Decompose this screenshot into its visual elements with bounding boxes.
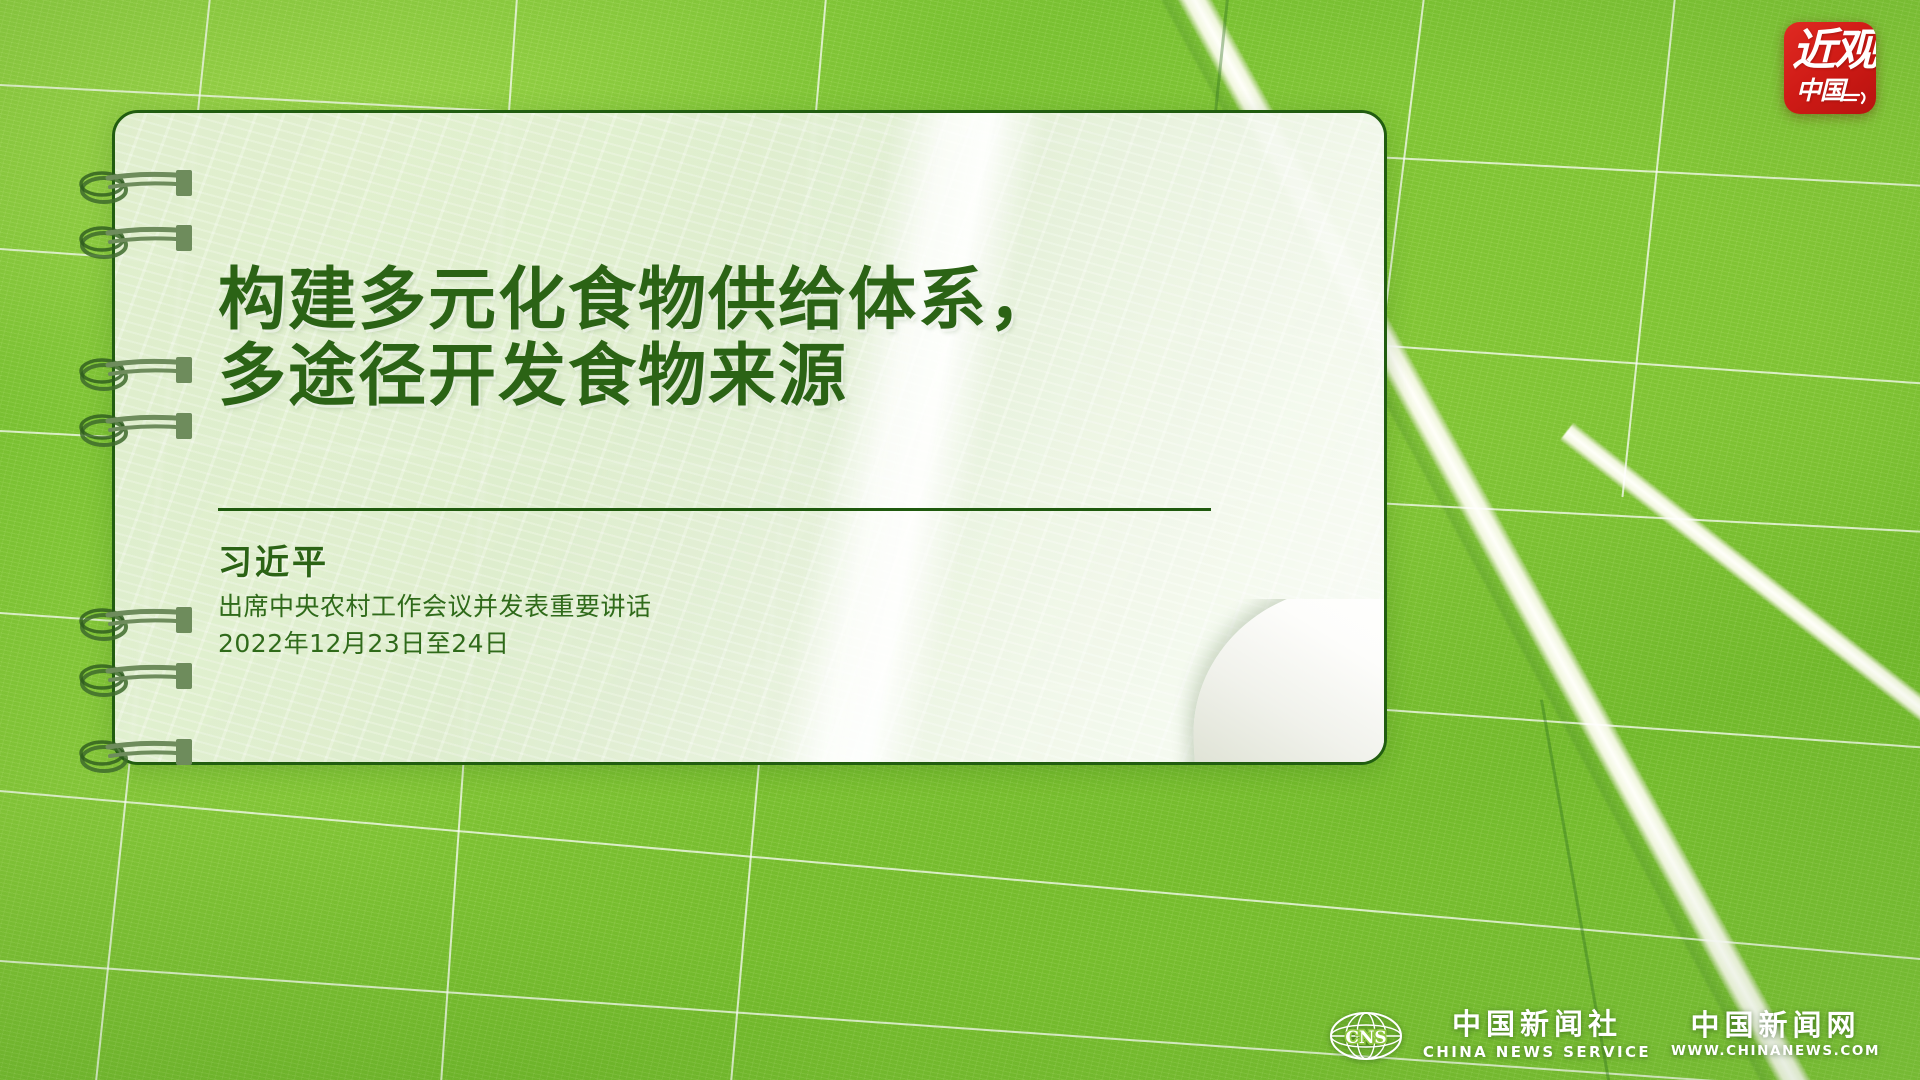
card-content: 构建多元化食物供给体系， 多途径开发食物来源 习近平 出席中央农村工作会议并发表… [115, 113, 1384, 762]
dateline-text: 2022年12月23日至24日 [218, 627, 1384, 662]
cns-globe-icon: CNS [1329, 1011, 1403, 1061]
occasion-text: 出席中央农村工作会议并发表重要讲话 [218, 590, 1384, 625]
attribution-divider [218, 508, 1211, 511]
badge-glyphs: 近观 中国 [1784, 22, 1876, 114]
svg-text:CNS: CNS [1345, 1028, 1386, 1048]
poster-canvas: 构建多元化食物供给体系， 多途径开发食物来源 习近平 出席中央农村工作会议并发表… [0, 0, 1920, 1080]
logo-cns-en: CHINA NEWS SERVICE [1423, 1043, 1651, 1063]
quote-card: 构建多元化食物供给体系， 多途径开发食物来源 习近平 出席中央农村工作会议并发表… [112, 110, 1387, 765]
logo-chinanews-cn: 中国新闻网 [1691, 1010, 1861, 1040]
logo-chinanews-web: 中国新闻网 WWW.CHINANEWS.COM [1671, 1010, 1880, 1061]
logo-cns-cn: 中国新闻社 [1452, 1009, 1622, 1039]
badge-line-2: 中国 [1796, 78, 1844, 103]
logo-china-news-service: 中国新闻社 CHINA NEWS SERVICE [1423, 1009, 1651, 1062]
footer-logos: CNS 中国新闻社 CHINA NEWS SERVICE 中国新闻网 WWW.C… [1329, 1009, 1880, 1062]
jinguan-china-badge[interactable]: 近观 中国 [1784, 22, 1876, 114]
quote-line-1: 构建多元化食物供给体系， [218, 263, 1384, 339]
badge-swoosh-icon [1843, 91, 1869, 105]
quote-line-2: 多途径开发食物来源 [218, 339, 1384, 415]
badge-line-1: 近观 [1792, 29, 1876, 73]
logo-chinanews-url: WWW.CHINANEWS.COM [1671, 1043, 1880, 1061]
speaker-name: 习近平 [218, 543, 1384, 584]
